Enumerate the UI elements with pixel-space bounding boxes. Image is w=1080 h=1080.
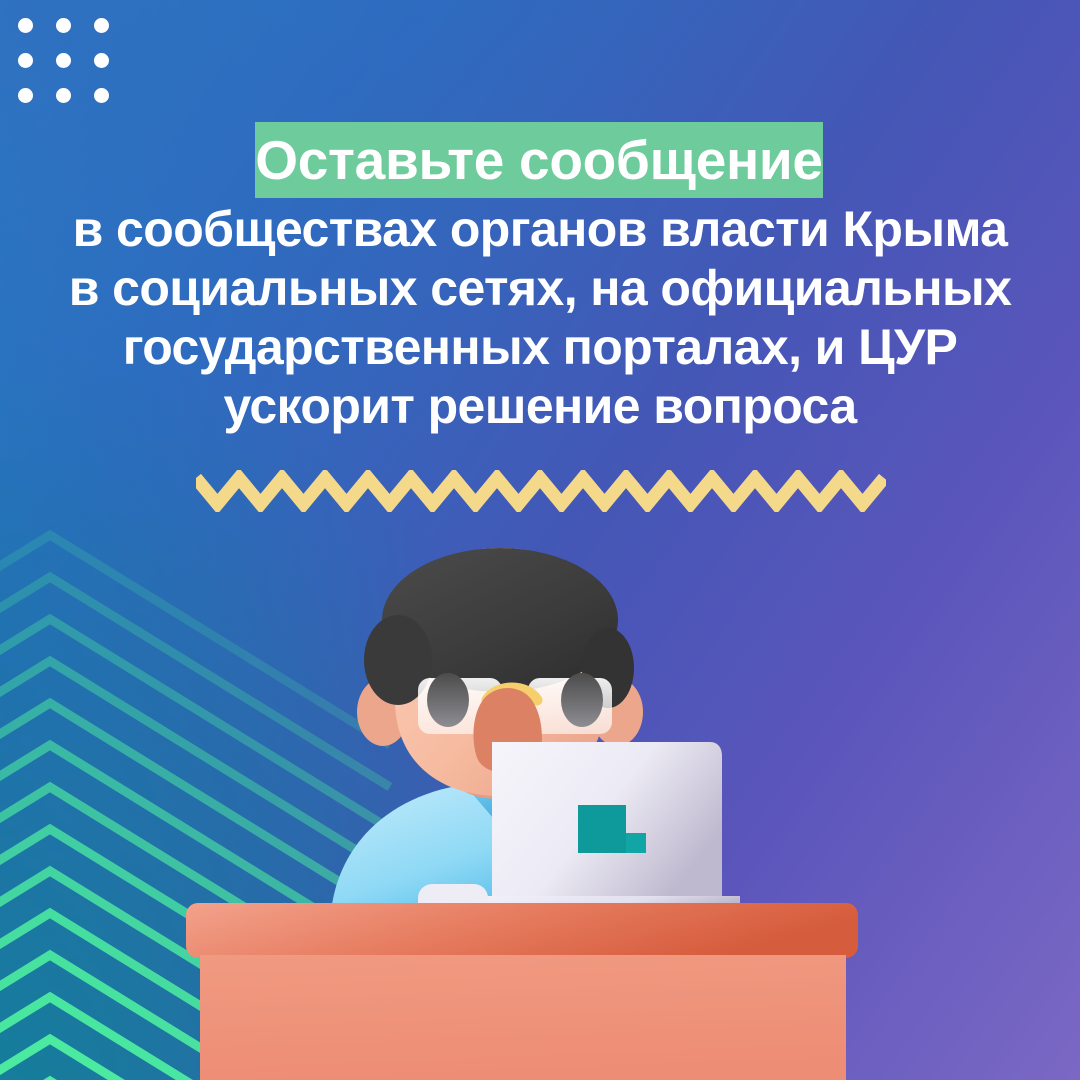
eye-left xyxy=(427,673,469,727)
laptop-logo-square-small xyxy=(626,833,646,853)
desk-front xyxy=(200,955,846,1080)
poster-canvas: Оставьте сообщение в сообществах органов… xyxy=(0,0,1080,1080)
eye-right xyxy=(561,673,603,727)
illustration-man-at-laptop xyxy=(0,0,1080,1080)
laptop-logo-square-large xyxy=(578,805,626,853)
desk-edge xyxy=(186,903,858,958)
